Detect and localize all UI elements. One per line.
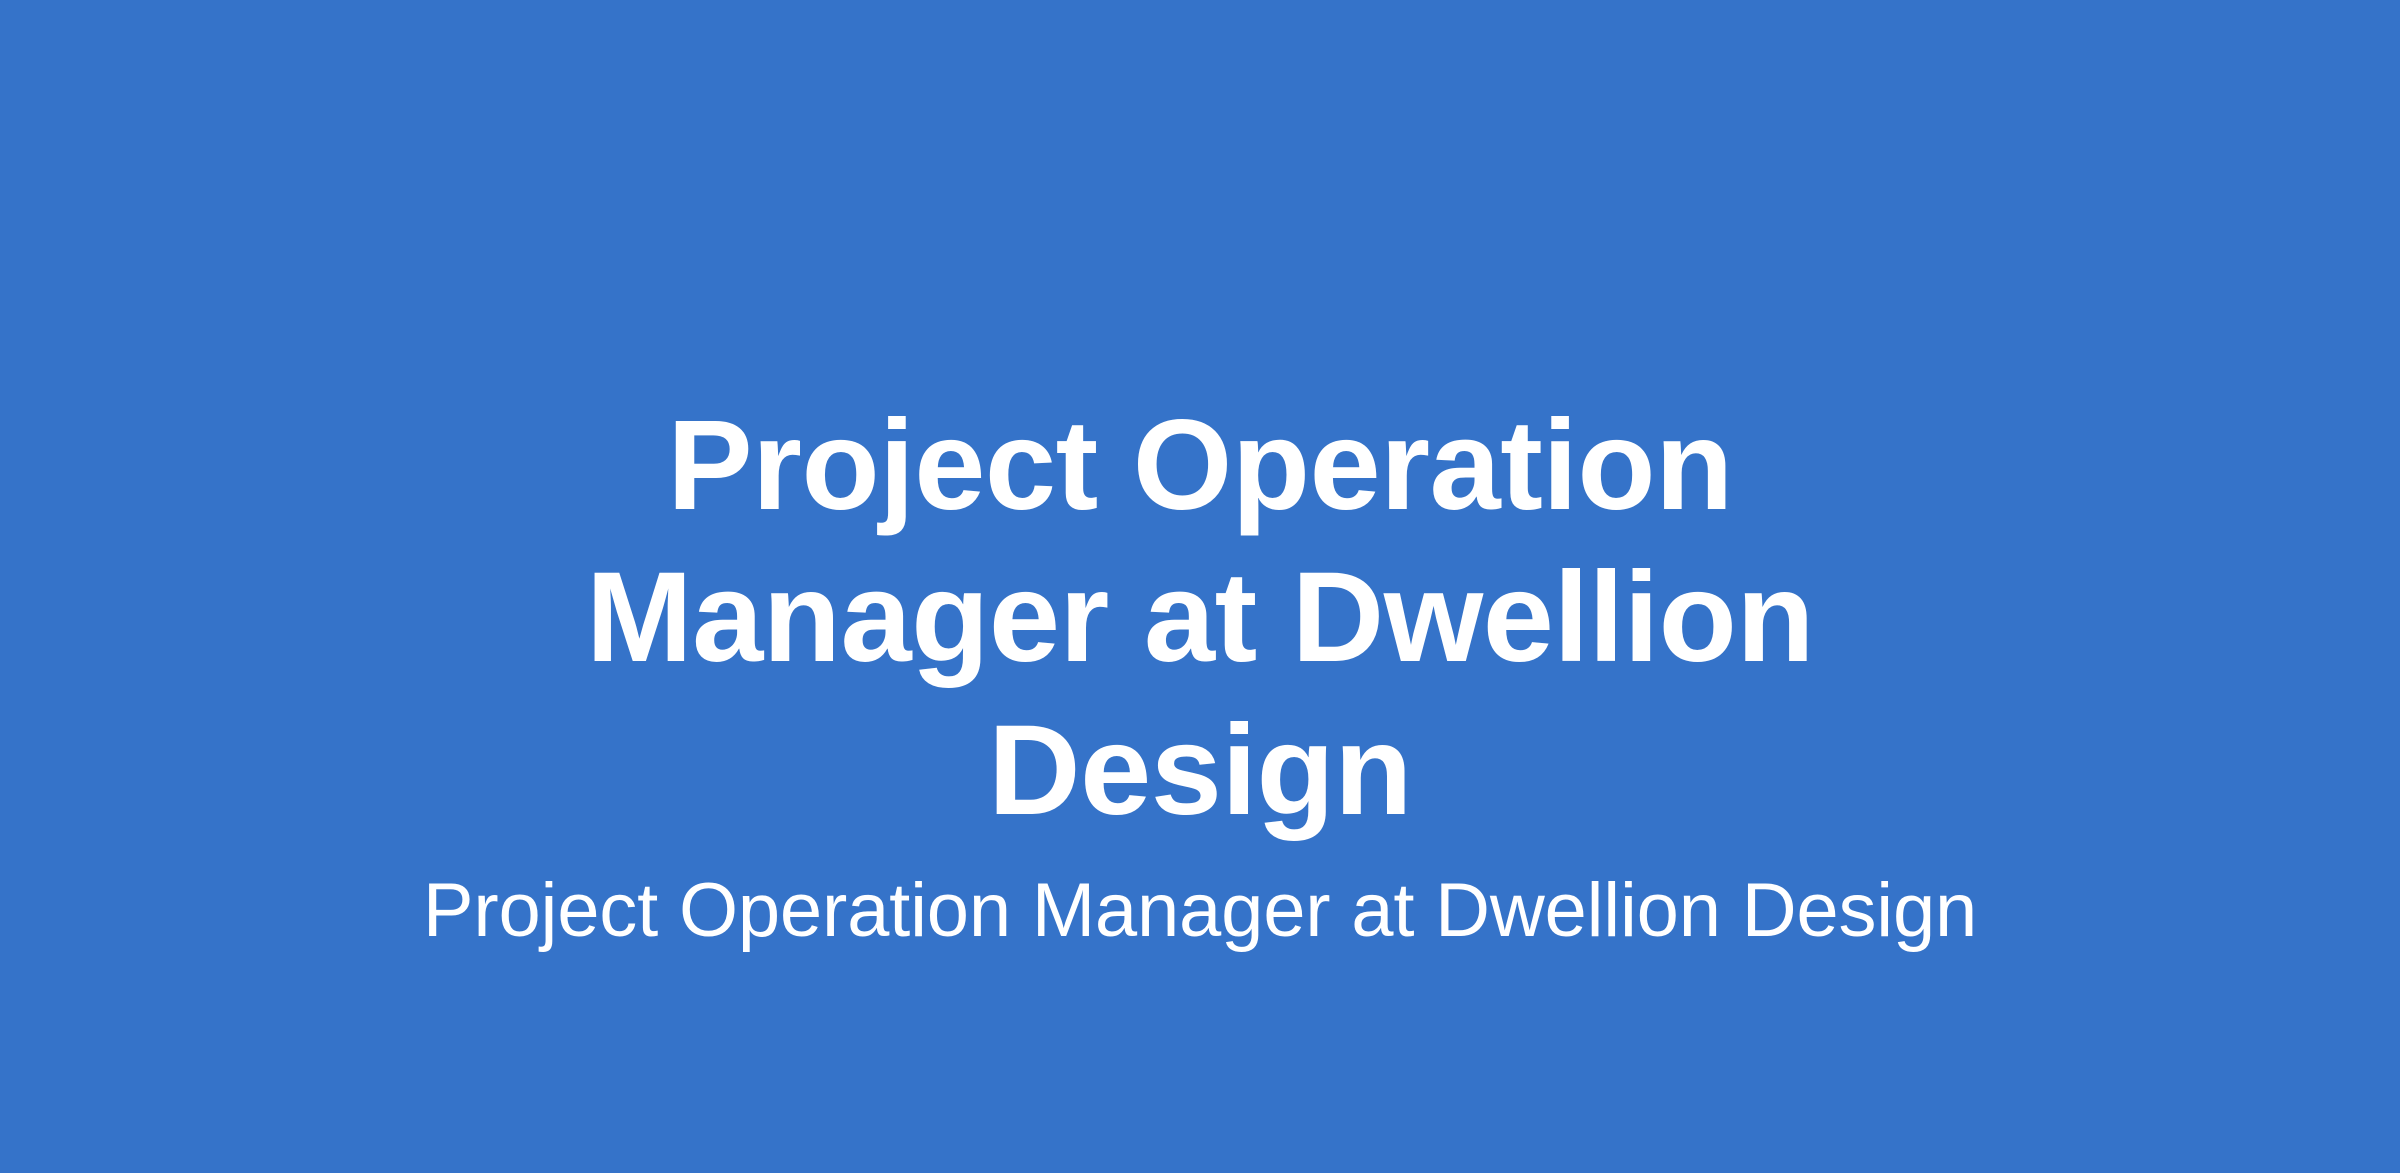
page-title: Project Operation Manager at Dwellion De… <box>400 390 2000 847</box>
slide-canvas: Project Operation Manager at Dwellion De… <box>0 0 2400 1173</box>
hero-text-block: Project Operation Manager at Dwellion De… <box>350 390 2050 956</box>
page-subtitle: Project Operation Manager at Dwellion De… <box>423 865 1977 956</box>
